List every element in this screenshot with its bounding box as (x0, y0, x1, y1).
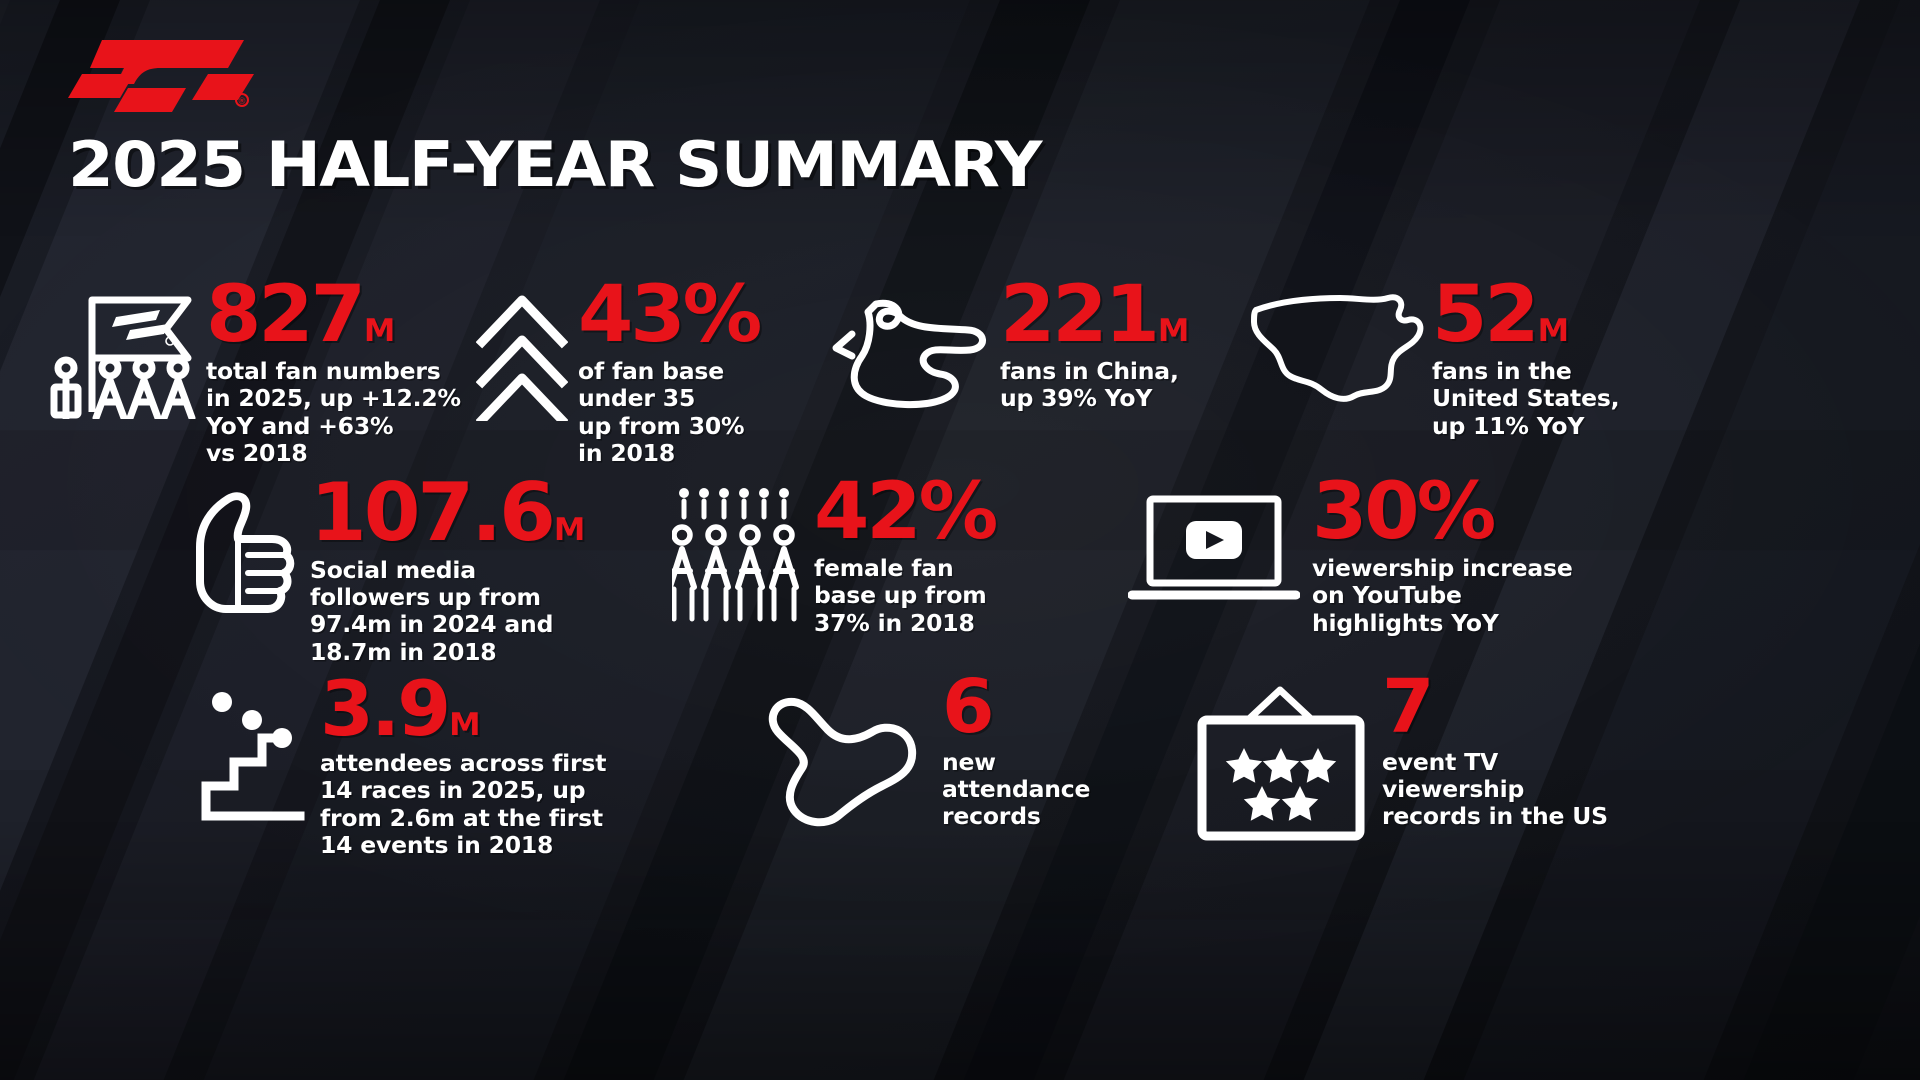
stat-unit: M (1538, 313, 1569, 349)
shanghai-circuit-icon (822, 278, 994, 410)
stats-row-3: 3.9M attendees across first 14 races in … (0, 672, 1920, 859)
podium-steps-icon (200, 672, 310, 821)
stat-attendance-records: 6 new attendance records (746, 672, 1176, 832)
stats-row-1: 827M total fan numbers in 2025, up +12.2… (0, 278, 1920, 467)
crowd-of-people-icon (672, 475, 804, 623)
stat-description: viewership increase on YouTube highlight… (1312, 555, 1573, 637)
stats-grid: 827M total fan numbers in 2025, up +12.2… (0, 278, 1920, 859)
stat-under-35: 43% of fan base under 35 up from 30% in … (476, 278, 816, 467)
stat-body: 42% female fan base up from 37% in 2018 (814, 475, 992, 637)
stat-usa-fans: 52M fans in the United States, up 11% Yo… (1248, 278, 1668, 440)
header: ® 2025 HALF-YEAR SUMMARY (68, 34, 986, 196)
stat-number: 42 (814, 467, 919, 557)
stat-value: 42% (814, 479, 995, 546)
stat-description: new attendance records (942, 749, 1090, 831)
stat-unit: M (364, 313, 395, 349)
stat-value: 827M (206, 282, 466, 349)
stat-description: Social media followers up from 97.4m in … (310, 557, 580, 666)
stat-unit: % (1417, 467, 1494, 557)
stat-number: 827 (206, 270, 363, 360)
stat-value: 30% (1312, 479, 1578, 546)
stat-number: 30 (1312, 467, 1417, 557)
stat-number: 7 (1382, 664, 1431, 750)
stat-number: 107.6 (310, 466, 553, 559)
stat-unit: % (683, 270, 760, 360)
stat-unit: % (919, 467, 996, 557)
television-stars-icon (1192, 672, 1370, 848)
stat-tv-records: 7 event TV viewership records in the US (1192, 672, 1622, 848)
registered-mark: ® (238, 97, 247, 107)
fans-with-f1-flag-icon (50, 278, 200, 419)
stat-number: 43 (578, 270, 683, 360)
stat-number: 6 (942, 664, 991, 750)
thumbs-up-icon (186, 475, 298, 625)
stat-body: 30% viewership increase on YouTube highl… (1312, 475, 1573, 637)
page-title: 2025 HALF-YEAR SUMMARY (68, 134, 1041, 196)
stat-body: 52M fans in the United States, up 11% Yo… (1432, 278, 1619, 440)
stat-description: fans in the United States, up 11% YoY (1432, 358, 1619, 440)
stat-body: 3.9M attendees across first 14 races in … (320, 672, 606, 859)
stat-value: 7 (1382, 676, 1612, 740)
stat-unit: M (554, 512, 585, 548)
stat-body: 6 new attendance records (942, 672, 1090, 830)
stat-number: 221 (1000, 270, 1157, 360)
stat-number: 52 (1432, 270, 1537, 360)
stat-social-followers: 107.6M Social media followers up from 97… (186, 475, 656, 666)
stat-female-fans: 42% female fan base up from 37% in 2018 (672, 475, 1112, 637)
stat-value: 52M (1432, 282, 1623, 349)
upward-chevrons-icon (476, 278, 568, 421)
race-circuit-icon (746, 672, 936, 832)
stat-value: 107.6M (310, 479, 585, 548)
stat-china-fans: 221M fans in China, up 39% YoY (822, 278, 1242, 413)
stat-body: 221M fans in China, up 39% YoY (1000, 278, 1186, 413)
stat-description: event TV viewership records in the US (1382, 749, 1608, 831)
stat-description: attendees across first 14 races in 2025,… (320, 750, 606, 859)
stat-value: 43% (578, 282, 759, 349)
stat-value: 3.9M (320, 676, 612, 741)
infographic-canvas: ® 2025 HALF-YEAR SUMMARY (0, 0, 1920, 1080)
stat-value: 221M (1000, 282, 1189, 349)
stat-unit: M (449, 707, 480, 743)
stat-value: 6 (942, 676, 1093, 740)
stat-description: of fan base under 35 up from 30% in 2018 (578, 358, 756, 467)
stat-body: 7 event TV viewership records in the US (1382, 672, 1608, 830)
stat-youtube-viewership: 30% viewership increase on YouTube highl… (1128, 475, 1588, 637)
stat-number: 3.9 (320, 664, 448, 753)
stat-race-attendees: 3.9M attendees across first 14 races in … (200, 672, 730, 859)
stat-total-fans: 827M total fan numbers in 2025, up +12.2… (50, 278, 470, 467)
stat-body: 43% of fan base under 35 up from 30% in … (578, 278, 756, 467)
united-states-map-icon (1248, 278, 1428, 411)
stat-unit: M (1158, 313, 1189, 349)
laptop-youtube-icon (1128, 475, 1300, 614)
f1-logo-icon: ® (68, 34, 258, 112)
stat-description: total fan numbers in 2025, up +12.2% YoY… (206, 358, 461, 467)
stats-row-2: 107.6M Social media followers up from 97… (0, 475, 1920, 666)
stat-body: 827M total fan numbers in 2025, up +12.2… (206, 278, 461, 467)
stat-body: 107.6M Social media followers up from 97… (310, 475, 580, 666)
stat-description: fans in China, up 39% YoY (1000, 358, 1186, 413)
stat-description: female fan base up from 37% in 2018 (814, 555, 992, 637)
